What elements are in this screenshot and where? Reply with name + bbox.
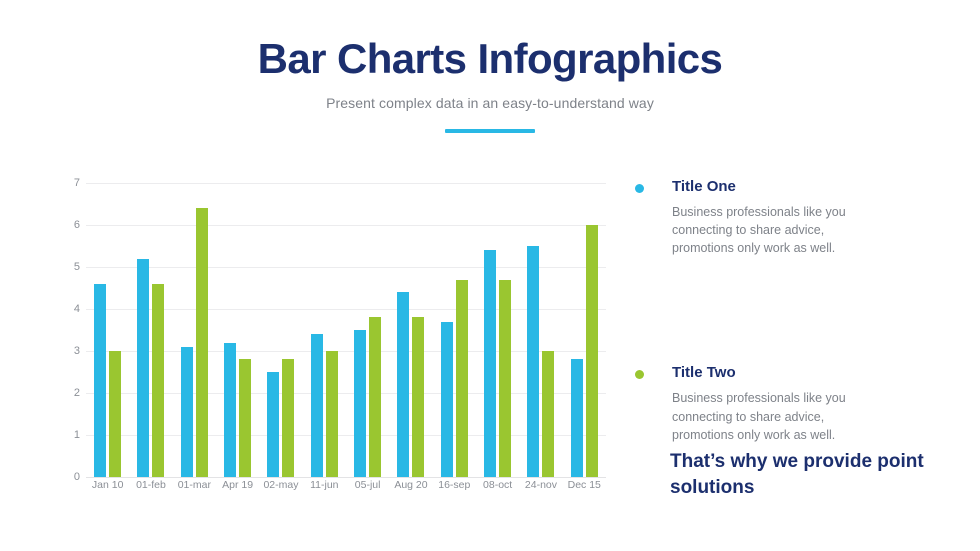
bar-chart: 01234567 Jan 1001-feb01-marApr 1902-may1… [58, 183, 606, 499]
bar-series-b[interactable] [369, 317, 381, 477]
x-axis-tick-label: Jan 10 [86, 479, 129, 491]
y-axis-tick-label: 1 [74, 429, 80, 441]
bar-series-a[interactable] [137, 259, 149, 477]
x-axis-tick-label: 05-jul [346, 479, 389, 491]
bars-layer [86, 183, 606, 477]
page-subtitle: Present complex data in an easy-to-under… [0, 95, 980, 111]
legend-item-title-one: Title One Business professionals like yo… [630, 178, 950, 257]
bar-group [86, 183, 129, 477]
x-axis-tick-label: 24-nov [519, 479, 562, 491]
x-axis-tick-label: 02-may [259, 479, 302, 491]
bar-series-b[interactable] [109, 351, 121, 477]
bar-group [563, 183, 606, 477]
bar-series-a[interactable] [94, 284, 106, 477]
bar-series-b[interactable] [456, 280, 468, 477]
y-axis-tick-label: 6 [74, 219, 80, 231]
title-underline-accent [445, 129, 535, 133]
legend-item-body: Business professionals like you connecti… [672, 389, 887, 443]
bar-series-a[interactable] [181, 347, 193, 477]
bar-group [173, 183, 216, 477]
bar-series-b[interactable] [282, 359, 294, 477]
bar-group [129, 183, 172, 477]
gridline [86, 477, 606, 478]
bar-group [519, 183, 562, 477]
y-axis-tick-label: 7 [74, 177, 80, 189]
bar-group [303, 183, 346, 477]
legend-item-title: Title One [672, 178, 950, 195]
x-axis-tick-label: 01-mar [173, 479, 216, 491]
bar-series-b[interactable] [152, 284, 164, 477]
y-axis-tick-label: 4 [74, 303, 80, 315]
bar-series-a[interactable] [484, 250, 496, 477]
x-axis-tick-label: 16-sep [433, 479, 476, 491]
bar-series-b[interactable] [499, 280, 511, 477]
bar-series-a[interactable] [311, 334, 323, 477]
bar-series-a[interactable] [441, 322, 453, 477]
x-axis-tick-labels: Jan 1001-feb01-marApr 1902-may11-jun05-j… [86, 479, 606, 491]
bar-group [433, 183, 476, 477]
bar-series-b[interactable] [542, 351, 554, 477]
x-axis-tick-label: 08-oct [476, 479, 519, 491]
plot-area [86, 183, 606, 477]
y-axis-tick-label: 0 [74, 471, 80, 483]
bar-series-a[interactable] [571, 359, 583, 477]
x-axis-tick-label: 01-feb [129, 479, 172, 491]
x-axis-tick-label: Aug 20 [389, 479, 432, 491]
bar-series-b[interactable] [239, 359, 251, 477]
cyan-bullet-icon [635, 184, 644, 193]
y-axis-tick-label: 3 [74, 345, 80, 357]
bar-series-b[interactable] [586, 225, 598, 477]
page-title: Bar Charts Infographics [0, 36, 980, 82]
green-bullet-icon [635, 370, 644, 379]
y-axis-tick-labels: 01234567 [58, 183, 80, 477]
legend-panel: Title One Business professionals like yo… [630, 178, 950, 470]
bar-series-a[interactable] [527, 246, 539, 477]
header: Bar Charts Infographics Present complex … [0, 0, 980, 133]
legend-item-title: Title Two [672, 364, 950, 381]
x-axis-tick-label: 11-jun [303, 479, 346, 491]
bar-group [389, 183, 432, 477]
bar-group [476, 183, 519, 477]
x-axis-tick-label: Dec 15 [563, 479, 606, 491]
y-axis-tick-label: 2 [74, 387, 80, 399]
bar-series-b[interactable] [412, 317, 424, 477]
bar-series-a[interactable] [224, 343, 236, 477]
legend-item-body: Business professionals like you connecti… [672, 203, 887, 257]
bar-series-a[interactable] [354, 330, 366, 477]
y-axis-tick-label: 5 [74, 261, 80, 273]
bar-series-b[interactable] [326, 351, 338, 477]
bar-series-a[interactable] [397, 292, 409, 477]
tagline: That’s why we provide point solutions [670, 449, 930, 500]
bar-series-a[interactable] [267, 372, 279, 477]
legend-item-title-two: Title Two Business professionals like yo… [630, 364, 950, 443]
x-axis-tick-label: Apr 19 [216, 479, 259, 491]
bar-group [216, 183, 259, 477]
bar-group [346, 183, 389, 477]
bar-group [259, 183, 302, 477]
bar-series-b[interactable] [196, 208, 208, 477]
